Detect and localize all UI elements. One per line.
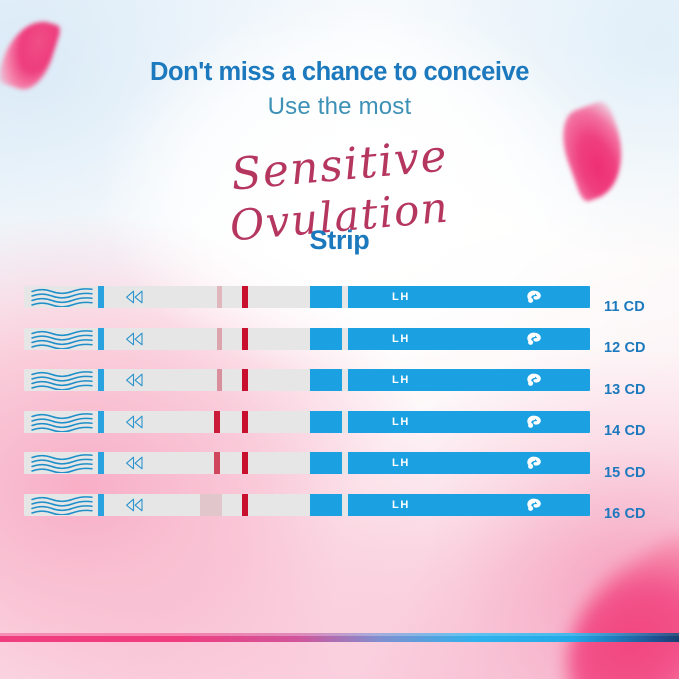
ovulation-test-strip[interactable]: LH bbox=[24, 286, 590, 308]
control-line bbox=[242, 494, 248, 516]
cycle-day-label: 11 CD bbox=[604, 299, 645, 315]
test-line bbox=[217, 328, 222, 350]
strip-label-bar: LH bbox=[348, 286, 590, 308]
cycle-day-label: 15 CD bbox=[604, 465, 646, 481]
strip-blue-tab bbox=[98, 494, 104, 516]
cycle-day-label: 16 CD bbox=[604, 506, 646, 522]
control-line bbox=[242, 286, 248, 308]
strip-label-bar: LH bbox=[348, 369, 590, 391]
test-line bbox=[217, 369, 222, 391]
wave-lines-icon bbox=[30, 495, 94, 515]
double-arrow-icon bbox=[125, 415, 144, 429]
ovulation-test-strip[interactable]: LH bbox=[24, 369, 590, 391]
double-arrow-icon bbox=[125, 373, 144, 387]
cycle-day-label: 12 CD bbox=[604, 340, 646, 356]
control-line bbox=[242, 369, 248, 391]
strip-label-bar: LH bbox=[348, 494, 590, 516]
strip-label-bar: LH bbox=[348, 452, 590, 474]
strip-row: LH14 CD bbox=[0, 411, 679, 453]
lh-label: LH bbox=[392, 291, 410, 303]
control-line bbox=[242, 328, 248, 350]
strip-row: LH16 CD bbox=[0, 494, 679, 536]
petal-top-right-icon bbox=[552, 99, 637, 203]
wave-lines-icon bbox=[30, 412, 94, 432]
script-word-sensitive: Sensitive bbox=[0, 109, 679, 221]
headline-main: Don't miss a chance to conceive bbox=[0, 58, 679, 87]
bottom-gradient-rule-highlight bbox=[0, 633, 679, 636]
strip-row: LH13 CD bbox=[0, 369, 679, 411]
double-arrow-icon bbox=[125, 456, 144, 470]
wave-lines-icon bbox=[30, 329, 94, 349]
strip-blue-block bbox=[310, 286, 342, 308]
lh-label: LH bbox=[392, 457, 410, 469]
brand-swirl-icon bbox=[526, 332, 542, 346]
wave-lines-icon bbox=[30, 287, 94, 307]
strip-label-bar: LH bbox=[348, 328, 590, 350]
ovulation-test-strip[interactable]: LH bbox=[24, 452, 590, 474]
strip-blue-block bbox=[310, 411, 342, 433]
lh-label: LH bbox=[392, 416, 410, 428]
brand-swirl-icon bbox=[526, 290, 542, 304]
cycle-day-label: 13 CD bbox=[604, 382, 646, 398]
wave-lines-icon bbox=[30, 453, 94, 473]
lh-label: LH bbox=[392, 374, 410, 386]
control-line bbox=[242, 452, 248, 474]
strip-blue-block bbox=[310, 494, 342, 516]
strip-blue-tab bbox=[98, 411, 104, 433]
headline-sub: Use the most bbox=[0, 93, 679, 121]
strip-row: LH12 CD bbox=[0, 328, 679, 370]
lh-label: LH bbox=[392, 499, 410, 511]
double-arrow-icon bbox=[125, 498, 144, 512]
ovulation-test-strip[interactable]: LH bbox=[24, 411, 590, 433]
strip-blue-tab bbox=[98, 286, 104, 308]
strip-blue-block bbox=[310, 452, 342, 474]
brand-swirl-icon bbox=[526, 415, 542, 429]
strip-row: LH15 CD bbox=[0, 452, 679, 494]
lh-label: LH bbox=[392, 333, 410, 345]
strip-list: LH11 CDLH12 CDLH13 CDLH14 CDLH15 CDLH16 … bbox=[0, 286, 679, 535]
wave-lines-icon bbox=[30, 370, 94, 390]
test-line bbox=[200, 494, 222, 516]
ovulation-test-strip[interactable]: LH bbox=[24, 328, 590, 350]
test-line bbox=[214, 411, 220, 433]
double-arrow-icon bbox=[125, 332, 144, 346]
script-word-ovulation: Ovulation bbox=[0, 163, 679, 271]
headline-strip: Strip bbox=[0, 225, 679, 256]
strip-blue-tab bbox=[98, 452, 104, 474]
control-line bbox=[242, 411, 248, 433]
test-line bbox=[214, 452, 220, 474]
strip-blue-tab bbox=[98, 328, 104, 350]
test-line bbox=[217, 286, 222, 308]
brand-swirl-icon bbox=[526, 456, 542, 470]
brand-swirl-icon bbox=[526, 498, 542, 512]
brand-swirl-icon bbox=[526, 373, 542, 387]
strip-row: LH11 CD bbox=[0, 286, 679, 328]
petal-top-left-icon bbox=[0, 13, 62, 96]
double-arrow-icon bbox=[125, 290, 144, 304]
ovulation-test-strip[interactable]: LH bbox=[24, 494, 590, 516]
poster-canvas: Don't miss a chance to conceive Use the … bbox=[0, 0, 679, 679]
strip-blue-tab bbox=[98, 369, 104, 391]
cycle-day-label: 14 CD bbox=[604, 423, 646, 439]
strip-blue-block bbox=[310, 369, 342, 391]
strip-blue-block bbox=[310, 328, 342, 350]
petal-bottom-right-icon bbox=[530, 526, 679, 679]
strip-label-bar: LH bbox=[348, 411, 590, 433]
